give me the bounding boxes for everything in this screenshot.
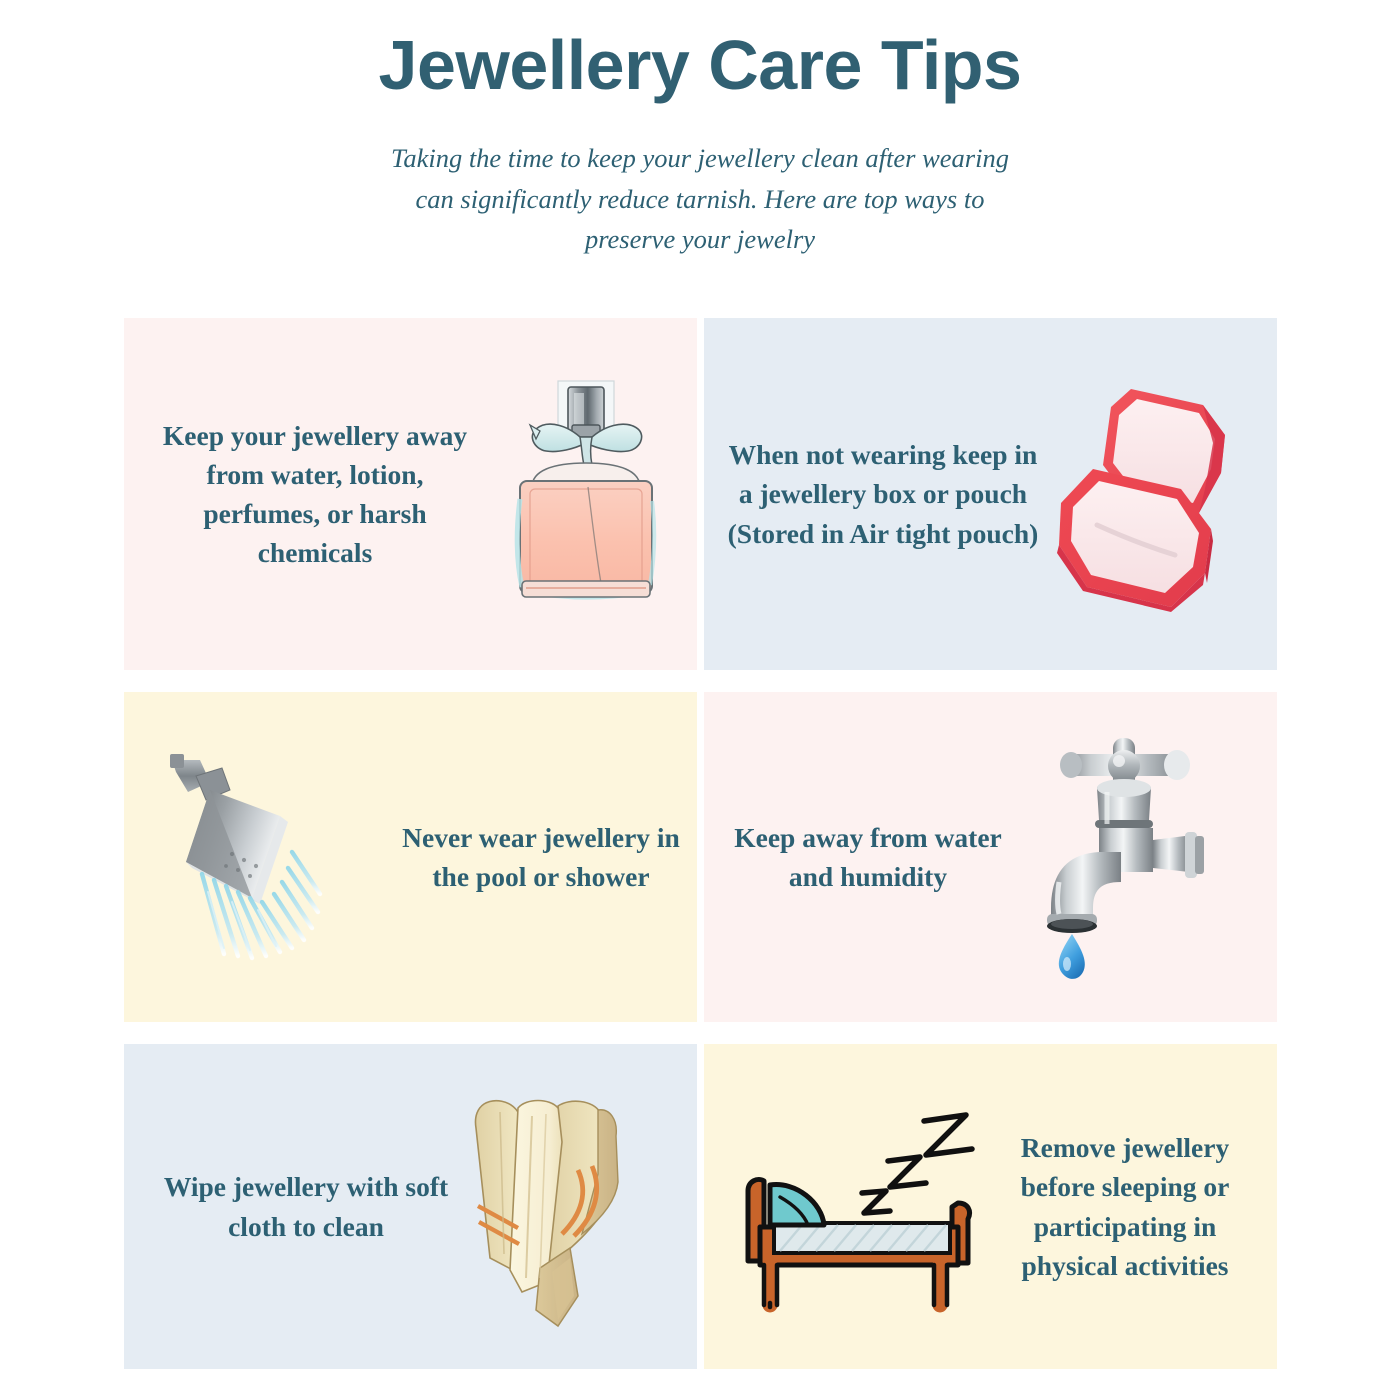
bed-sleep-icon — [704, 1044, 997, 1369]
perfume-bottle-icon — [484, 318, 697, 670]
tip-card-2-label: When not wearing keep in a jewellery box… — [704, 435, 1044, 552]
tip-card-5[interactable]: Wipe jewellery with soft cloth to clean — [124, 1044, 697, 1369]
tip-card-5-label: Wipe jewellery with soft cloth to clean — [124, 1167, 454, 1245]
faucet-droplet-icon — [1004, 692, 1277, 1022]
page-title: Jewellery Care Tips — [0, 26, 1400, 104]
shower-head-icon — [124, 692, 397, 1022]
tip-card-3[interactable]: Never wear jewellery in the pool or show… — [124, 692, 697, 1022]
tip-card-3-label: Never wear jewellery in the pool or show… — [397, 818, 697, 896]
cloth-icon — [454, 1044, 697, 1369]
tip-card-2[interactable]: When not wearing keep in a jewellery box… — [704, 318, 1277, 670]
header: Jewellery Care Tips Taking the time to k… — [0, 0, 1400, 260]
tip-card-4[interactable]: Keep away from water and humidity — [704, 692, 1277, 1022]
infographic-page: Jewellery Care Tips Taking the time to k… — [0, 0, 1400, 1400]
tip-card-6[interactable]: Remove jewellery before sleeping or part… — [704, 1044, 1277, 1369]
page-subtitle: Taking the time to keep your jewellery c… — [380, 138, 1020, 260]
tips-grid: Keep your jewellery away from water, lot… — [124, 318, 1277, 1369]
ring-box-icon — [1044, 318, 1277, 670]
tip-card-1[interactable]: Keep your jewellery away from water, lot… — [124, 318, 697, 670]
tip-card-6-label: Remove jewellery before sleeping or part… — [997, 1128, 1277, 1284]
tip-card-4-label: Keep away from water and humidity — [704, 818, 1004, 896]
tip-card-1-label: Keep your jewellery away from water, lot… — [124, 416, 484, 572]
